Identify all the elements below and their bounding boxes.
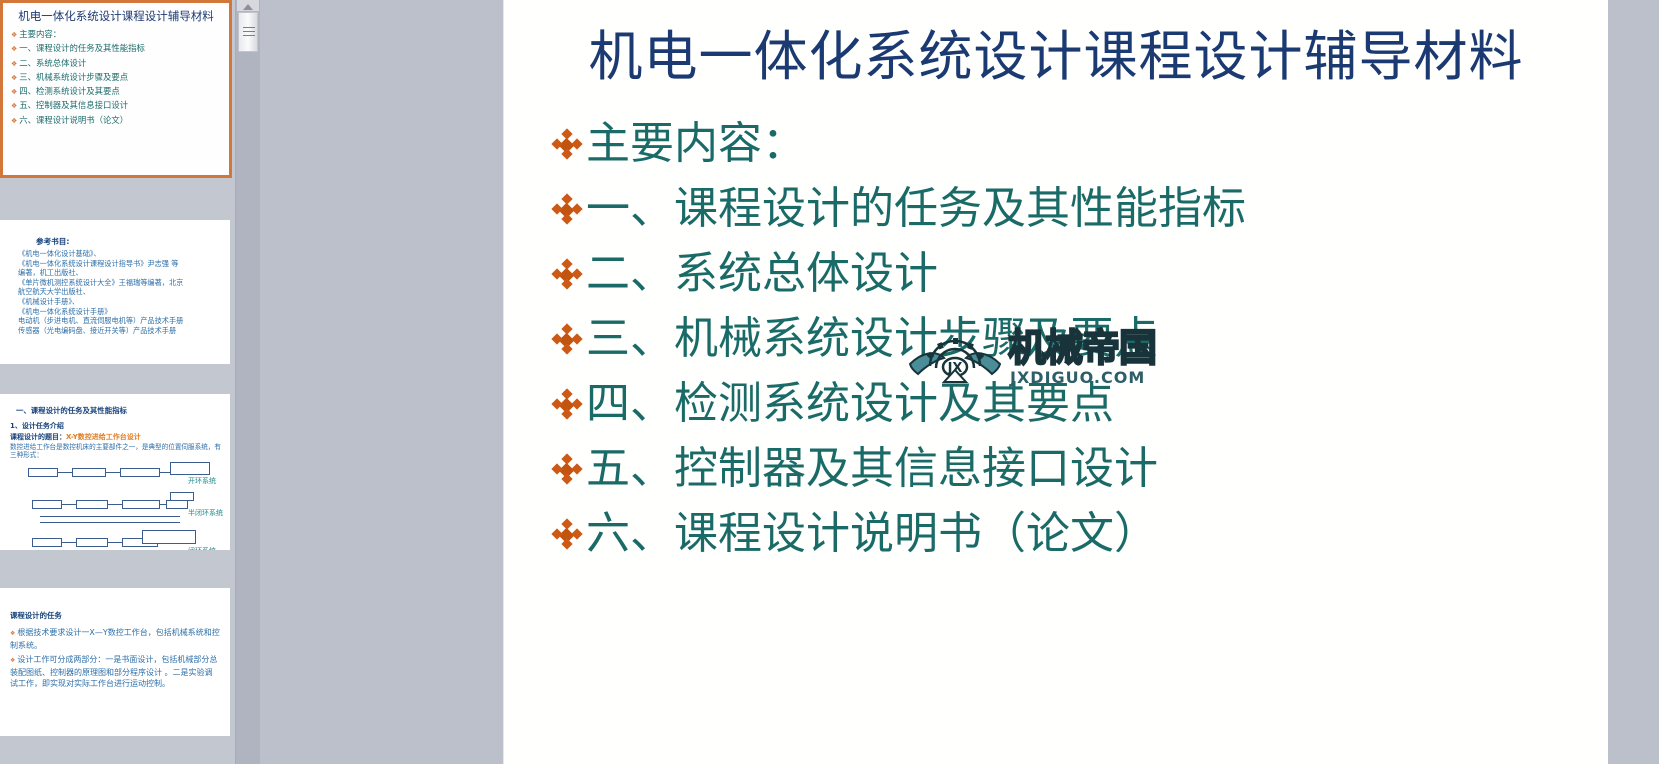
diagram-connector <box>108 542 122 543</box>
thumb3-topic-value: X-Y数控进给工作台设计 <box>66 433 141 441</box>
thumb3-subheading: 1、设计任务介绍 <box>10 421 224 431</box>
slide-item-text: 主要内容： <box>586 111 806 176</box>
diamond-bullet-icon <box>548 257 582 291</box>
diamond-bullet-icon: ❖ <box>11 45 17 53</box>
slide-item-text: 四、检测系统设计及其要点 <box>586 371 1114 436</box>
thumb4-top-band <box>0 558 230 588</box>
diamond-bullet-icon: ❖ <box>11 60 17 68</box>
thumb4-item-text: 设计工作可分成两部分：一是书面设计，包括机械部分总装配图纸、控制器的原理图和部分… <box>10 655 217 688</box>
diagram-block <box>142 530 196 544</box>
thumb1-item-text: 六、课程设计说明书（论文） <box>19 115 128 125</box>
thumb1-list-item: ❖三、机械系统设计步骤及要点 <box>11 71 229 85</box>
slide-item-text: 三、机械系统设计步骤及要点 <box>586 306 1158 371</box>
diamond-bullet-icon <box>548 517 582 551</box>
slide-item-text: 二、系统总体设计 <box>586 241 938 306</box>
thumb2-line: 《单片微机测控系统设计大全》王福瑞等编著，北京 <box>18 278 218 288</box>
thumb3-diagram-semi-closed-loop: 半闭环系统 <box>10 498 224 531</box>
thumb1-item-text: 四、检测系统设计及其要点 <box>19 86 120 96</box>
diagram-block <box>120 468 160 477</box>
thumb1-list-item: ❖五、控制器及其信息接口设计 <box>11 99 229 113</box>
slide-thumbnail-3[interactable]: 一、课程设计的任务及其性能指标 1、设计任务介绍 课程设计的题目：X-Y数控进给… <box>0 372 230 550</box>
thumb1-list-item: ❖四、检测系统设计及其要点 <box>11 85 229 99</box>
thumb2-line: 编著，机工出版社、 <box>18 268 218 278</box>
scrollbar-grip-icon <box>243 27 255 36</box>
thumb1-list: ❖主要内容： ❖一、课程设计的任务及其性能指标 ❖二、系统总体设计 ❖三、机械系… <box>11 28 229 128</box>
slide-list-item: 一、课程设计的任务及其性能指标 <box>548 176 1608 241</box>
diagram-block <box>122 500 160 509</box>
thumb1-item-text: 主要内容： <box>19 29 61 39</box>
diagram-block <box>170 492 194 501</box>
slide-thumbnail-4[interactable]: 课程设计的任务 ❖根据技术要求设计一X—Y数控工作台，包括机械系统和控制系统。 … <box>0 558 230 736</box>
thumb3-diagram-open-loop: 开环系统 <box>10 462 224 495</box>
slide-item-text: 五、控制器及其信息接口设计 <box>586 436 1158 501</box>
diagram-connector <box>106 472 120 473</box>
diamond-bullet-icon <box>548 387 582 421</box>
diagram-block <box>28 468 58 477</box>
slide-bullet-list: 主要内容： 一、课程设计的任务及其性能指标 二、系统总体设计 三、机械系统设计步… <box>548 111 1608 566</box>
thumb3-paragraph: 数控进给工作台是数控机床的主要部件之一，是典型的位置伺服系统，有三种形式： <box>10 443 224 459</box>
diagram-label: 半闭环系统 <box>188 508 223 518</box>
thumb1-title: 机电一体化系统设计课程设计辅导材料 <box>13 9 219 23</box>
thumb3-content: 一、课程设计的任务及其性能指标 1、设计任务介绍 课程设计的题目：X-Y数控进给… <box>0 394 230 550</box>
diamond-bullet-icon <box>548 192 582 226</box>
thumbnail-pane-scrollbar[interactable] <box>235 0 260 764</box>
slide-list-item: 二、系统总体设计 <box>548 241 1608 306</box>
thumb1-item-text: 一、课程设计的任务及其性能指标 <box>19 43 145 53</box>
slide-stage: 机电一体化系统设计课程设计辅导材料 主要内容： 一、课程设计的任务及其性能指标 … <box>260 0 1659 764</box>
slide-list-item: 五、控制器及其信息接口设计 <box>548 436 1608 501</box>
thumb2-line: 《机械设计手册》、 <box>18 297 218 307</box>
thumb2-content: 参考书目: 《机电一体化设计基础》、 《机电一体化系统设计课程设计指导书》尹志强… <box>0 220 230 335</box>
thumb1-list-item: ❖一、课程设计的任务及其性能指标 <box>11 42 229 56</box>
thumb1-list-item: ❖六、课程设计说明书（论文） <box>11 114 229 128</box>
slide-list-item: 主要内容： <box>548 111 1608 176</box>
diagram-connector <box>58 472 72 473</box>
thumb4-heading: 课程设计的任务 <box>10 610 220 621</box>
slide-item-text: 六、课程设计说明书（论文） <box>586 501 1158 566</box>
diagram-feedback-line <box>40 516 180 517</box>
thumb3-heading: 一、课程设计的任务及其性能指标 <box>16 405 224 416</box>
diamond-bullet-icon <box>548 322 582 356</box>
diamond-bullet-icon: ❖ <box>11 117 17 125</box>
diagram-block <box>32 538 62 547</box>
diagram-block <box>170 462 210 475</box>
diamond-bullet-icon <box>548 127 582 161</box>
slide-list-item: 六、课程设计说明书（论文） <box>548 501 1608 566</box>
thumb2-line: 《机电一体化系统设计课程设计指导书》尹志强 等 <box>18 259 218 269</box>
thumb3-topic-label: 课程设计的题目： <box>10 433 66 441</box>
thumb4-list-item: ❖根据技术要求设计一X—Y数控工作台，包括机械系统和控制系统。 <box>10 627 220 651</box>
diagram-block <box>166 500 188 509</box>
thumb3-diagram-closed-loop: 闭环系统 <box>10 534 224 550</box>
thumb2-top-band <box>0 186 230 220</box>
diagram-feedback-line <box>40 522 180 523</box>
thumb4-list-item: ❖设计工作可分成两部分：一是书面设计，包括机械部分总装配图纸、控制器的原理图和部… <box>10 654 220 690</box>
diagram-connector <box>62 504 76 505</box>
diamond-bullet-icon: ❖ <box>11 88 17 96</box>
thumb1-item-text: 三、机械系统设计步骤及要点 <box>19 72 128 82</box>
diagram-connector <box>62 542 76 543</box>
diamond-bullet-icon <box>548 452 582 486</box>
diagram-label: 开环系统 <box>188 476 216 486</box>
thumb2-line: 电动机（步进电机、直流伺服电机等）产品技术手册 <box>18 316 218 326</box>
slide-thumbnail-2[interactable]: 参考书目: 《机电一体化设计基础》、 《机电一体化系统设计课程设计指导书》尹志强… <box>0 186 230 364</box>
diamond-bullet-icon: ❖ <box>10 630 15 637</box>
diagram-connector <box>160 504 166 505</box>
thumb3-top-band <box>0 372 230 394</box>
thumb1-list-item: ❖二、系统总体设计 <box>11 57 229 71</box>
diagram-block <box>76 538 108 547</box>
slide-thumbnail-1-content: 机电一体化系统设计课程设计辅导材料 ❖主要内容： ❖一、课程设计的任务及其性能指… <box>3 3 229 175</box>
thumb2-line: 《机电一体化设计基础》、 <box>18 249 218 259</box>
diagram-connector <box>108 504 122 505</box>
diamond-bullet-icon: ❖ <box>11 102 17 110</box>
slide-title: 机电一体化系统设计课程设计辅导材料 <box>544 24 1568 89</box>
thumb2-line: 《机电一体化系统设计手册》 <box>18 307 218 317</box>
current-slide[interactable]: 机电一体化系统设计课程设计辅导材料 主要内容： 一、课程设计的任务及其性能指标 … <box>504 0 1608 764</box>
scroll-up-arrow-icon[interactable] <box>237 0 259 11</box>
thumb2-line: 传感器（光电编码盘、接近开关等）产品技术手册 <box>18 326 218 336</box>
diamond-bullet-icon: ❖ <box>11 31 17 39</box>
slide-thumbnail-pane[interactable]: 机电一体化系统设计课程设计辅导材料 ❖主要内容： ❖一、课程设计的任务及其性能指… <box>0 0 235 764</box>
presentation-viewer: 机电一体化系统设计课程设计辅导材料 ❖主要内容： ❖一、课程设计的任务及其性能指… <box>0 0 1659 764</box>
thumb1-list-item: ❖主要内容： <box>11 28 229 42</box>
scrollbar-thumb[interactable] <box>238 12 258 52</box>
thumb2-line: 航空航天大学出版社、 <box>18 287 218 297</box>
thumb4-content: 课程设计的任务 ❖根据技术要求设计一X—Y数控工作台，包括机械系统和控制系统。 … <box>0 588 230 690</box>
diagram-connector <box>160 472 170 473</box>
thumb1-item-text: 五、控制器及其信息接口设计 <box>19 100 128 110</box>
diagram-block <box>76 500 108 509</box>
thumb3-topic: 课程设计的题目：X-Y数控进给工作台设计 <box>10 432 224 442</box>
diagram-block <box>32 500 62 509</box>
slide-item-text: 一、课程设计的任务及其性能指标 <box>586 176 1246 241</box>
slide-list-item: 四、检测系统设计及其要点 <box>548 371 1608 436</box>
diagram-label: 闭环系统 <box>188 546 216 550</box>
thumb2-heading: 参考书目: <box>36 236 218 247</box>
slide-thumbnail-1[interactable]: 机电一体化系统设计课程设计辅导材料 ❖主要内容： ❖一、课程设计的任务及其性能指… <box>0 0 232 178</box>
thumb4-item-text: 根据技术要求设计一X—Y数控工作台，包括机械系统和控制系统。 <box>10 628 220 650</box>
diamond-bullet-icon: ❖ <box>10 657 15 664</box>
diagram-block <box>72 468 106 477</box>
slide-list-item: 三、机械系统设计步骤及要点 <box>548 306 1608 371</box>
thumb1-item-text: 二、系统总体设计 <box>19 58 86 68</box>
diamond-bullet-icon: ❖ <box>11 74 17 82</box>
